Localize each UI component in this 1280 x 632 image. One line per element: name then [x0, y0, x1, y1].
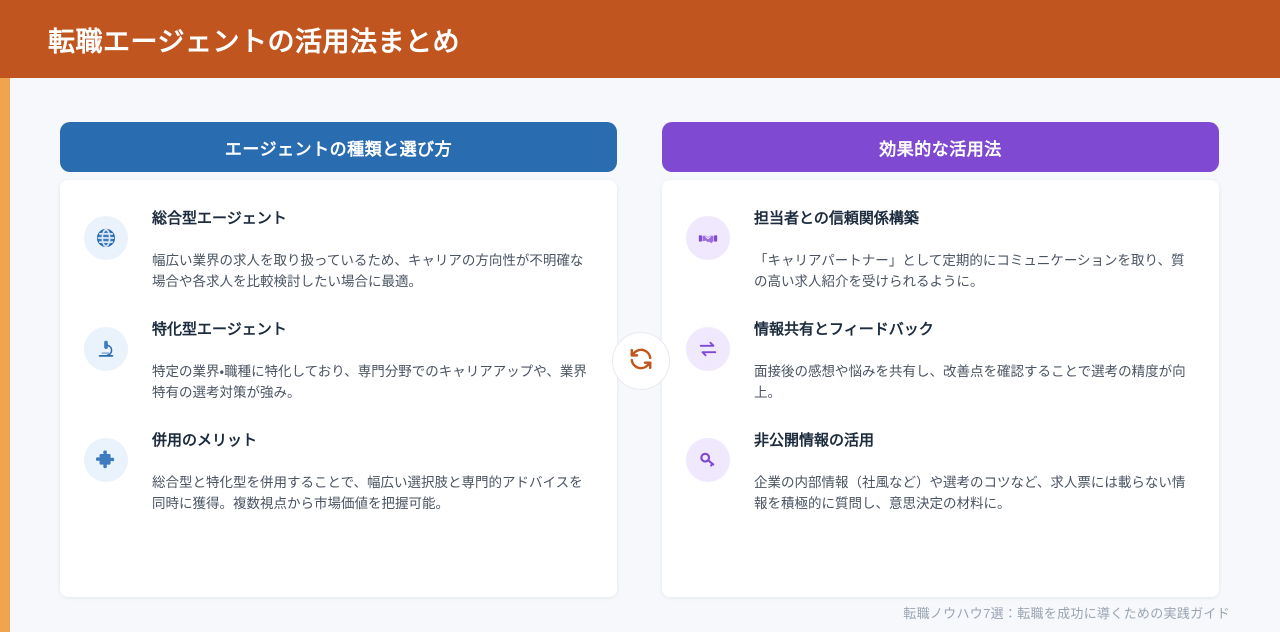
refresh-sync-icon — [628, 346, 654, 377]
microscope-icon — [84, 327, 128, 371]
list-item[interactable]: 総合型エージェント 幅広い業界の求人を取り扱っているため、キャリアの方向性が不明… — [84, 206, 589, 293]
exchange-arrows-icon — [686, 327, 730, 371]
card-effective-usage: 効果的な活用法 担当者との信頼関係構築 「キャリアパートナー」として定期的にコミ… — [662, 122, 1219, 597]
list-item-title: 担当者との信頼関係構築 — [754, 208, 1191, 229]
list-item[interactable]: 非公開情報の活用 企業の内部情報（社風など）や選考のコツなど、求人票には載らない… — [686, 428, 1191, 515]
card-agent-types: エージェントの種類と選び方 総合型エージェント 幅広い業界の求人を取り扱っている… — [60, 122, 617, 597]
card-header-label: 効果的な活用法 — [879, 135, 1002, 160]
footer-note: 転職ノウハウ7選：転職を成功に導くための実践ガイド — [903, 603, 1230, 622]
list-item-text: 総合型エージェント 幅広い業界の求人を取り扱っているため、キャリアの方向性が不明… — [152, 206, 589, 293]
card-body-agent-types: 総合型エージェント 幅広い業界の求人を取り扱っているため、キャリアの方向性が不明… — [60, 180, 617, 597]
main-content-area: エージェントの種類と選び方 総合型エージェント 幅広い業界の求人を取り扱っている… — [10, 78, 1280, 632]
key-icon — [686, 438, 730, 482]
list-item-description: 面接後の感想や悩みを共有し、改善点を確認することで選考の精度が向上。 — [754, 362, 1191, 404]
list-item-title: 非公開情報の活用 — [754, 430, 1191, 451]
card-header-effective-usage: 効果的な活用法 — [662, 122, 1219, 172]
list-item-title: 特化型エージェント — [152, 319, 589, 340]
list-item-text: 情報共有とフィードバック 面接後の感想や悩みを共有し、改善点を確認することで選考… — [754, 317, 1191, 404]
page-header: 転職エージェントの活用法まとめ — [0, 0, 1280, 78]
list-item[interactable]: 情報共有とフィードバック 面接後の感想や悩みを共有し、改善点を確認することで選考… — [686, 317, 1191, 404]
handshake-icon — [686, 216, 730, 260]
list-item-text: 併用のメリット 総合型と特化型を併用することで、幅広い選択肢と専門的アドバイスを… — [152, 428, 589, 515]
list-item[interactable]: 併用のメリット 総合型と特化型を併用することで、幅広い選択肢と専門的アドバイスを… — [84, 428, 589, 515]
globe-icon — [84, 216, 128, 260]
list-item-title: 情報共有とフィードバック — [754, 319, 1191, 340]
list-item-text: 特化型エージェント 特定の業界・職種に特化しており、専門分野でのキャリアアップや… — [152, 317, 589, 404]
card-body-effective-usage: 担当者との信頼関係構築 「キャリアパートナー」として定期的にコミュニケーションを… — [662, 180, 1219, 597]
list-item-text: 非公開情報の活用 企業の内部情報（社風など）や選考のコツなど、求人票には載らない… — [754, 428, 1191, 515]
list-item-description: 「キャリアパートナー」として定期的にコミュニケーションを取り、質の高い求人紹介を… — [754, 251, 1191, 293]
left-accent-stripe — [0, 78, 10, 632]
list-item[interactable]: 特化型エージェント 特定の業界・職種に特化しており、専門分野でのキャリアアップや… — [84, 317, 589, 404]
list-item-description: 特定の業界・職種に特化しており、専門分野でのキャリアアップや、業界特有の選考対策… — [152, 362, 589, 404]
list-item-text: 担当者との信頼関係構築 「キャリアパートナー」として定期的にコミュニケーションを… — [754, 206, 1191, 293]
list-item[interactable]: 担当者との信頼関係構築 「キャリアパートナー」として定期的にコミュニケーションを… — [686, 206, 1191, 293]
list-item-title: 併用のメリット — [152, 430, 589, 451]
page-title: 転職エージェントの活用法まとめ — [48, 20, 460, 59]
list-item-description: 総合型と特化型を併用することで、幅広い選択肢と専門的アドバイスを同時に獲得。複数… — [152, 473, 589, 515]
card-header-label: エージェントの種類と選び方 — [225, 135, 452, 160]
connector-badge — [612, 332, 670, 390]
card-header-agent-types: エージェントの種類と選び方 — [60, 122, 617, 172]
list-item-title: 総合型エージェント — [152, 208, 589, 229]
puzzle-piece-icon — [84, 438, 128, 482]
list-item-description: 企業の内部情報（社風など）や選考のコツなど、求人票には載らない情報を積極的に質問… — [754, 473, 1191, 515]
list-item-description: 幅広い業界の求人を取り扱っているため、キャリアの方向性が不明確な場合や各求人を比… — [152, 251, 589, 293]
